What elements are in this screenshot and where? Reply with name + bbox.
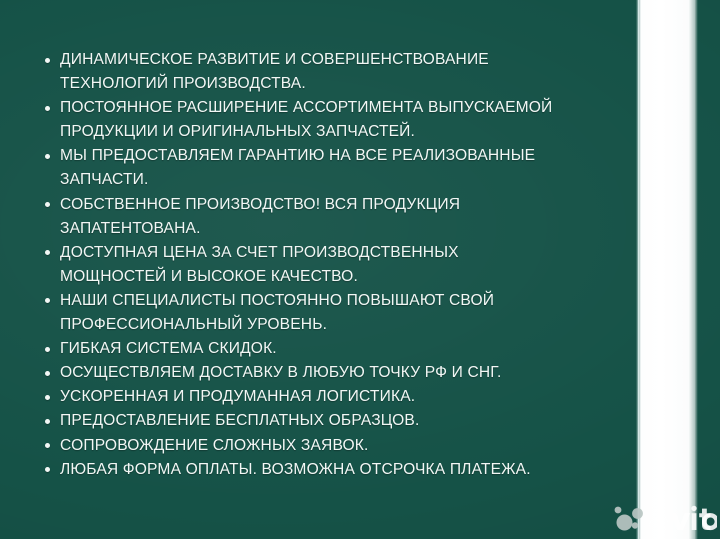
slide-canvas: ДИНАМИЧЕСКОЕ РАЗВИТИЕ И СОВЕРШЕНСТВОВАНИ… [0, 0, 720, 539]
benefits-bullet-list: ДИНАМИЧЕСКОЕ РАЗВИТИЕ И СОВЕРШЕНСТВОВАНИ… [42, 48, 620, 482]
bullet-item: ПОСТОЯННОЕ РАСШИРЕНИЕ АССОРТИМЕНТА ВЫПУС… [42, 96, 620, 144]
bullet-dot-icon [45, 202, 50, 207]
bullet-text: ДОСТУПНАЯ ЦЕНА ЗА СЧЕТ ПРОИЗВОДСТВЕННЫХ … [60, 244, 459, 285]
bullet-dot-icon [45, 347, 50, 352]
bullet-item: МЫ ПРЕДОСТАВЛЯЕМ ГАРАНТИЮ НА ВСЕ РЕАЛИЗО… [42, 144, 620, 192]
bullet-text: ГИБКАЯ СИСТЕМА СКИДОК. [60, 340, 277, 357]
bullet-item: СОПРОВОЖДЕНИЕ СЛОЖНЫХ ЗАЯВОК. [42, 434, 620, 458]
bullet-text: СОБСТВЕННОЕ ПРОИЗВОДСТВО! ВСЯ ПРОДУКЦИЯ … [60, 196, 460, 237]
bullet-text: ДИНАМИЧЕСКОЕ РАЗВИТИЕ И СОВЕРШЕНСТВОВАНИ… [60, 51, 489, 92]
bullet-dot-icon [45, 250, 50, 255]
bullet-item: НАШИ СПЕЦИАЛИСТЫ ПОСТОЯННО ПОВЫШАЮТ СВОЙ… [42, 289, 620, 337]
bullet-text: ПРЕДОСТАВЛЕНИЕ БЕСПЛАТНЫХ ОБРАЗЦОВ. [60, 412, 419, 429]
bullet-text: СОПРОВОЖДЕНИЕ СЛОЖНЫХ ЗАЯВОК. [60, 437, 369, 454]
bullet-text: НАШИ СПЕЦИАЛИСТЫ ПОСТОЯННО ПОВЫШАЮТ СВОЙ… [60, 292, 494, 333]
bullet-text: ЛЮБАЯ ФОРМА ОПЛАТЫ. ВОЗМОЖНА ОТСРОЧКА ПЛ… [60, 461, 531, 478]
bullet-item: СОБСТВЕННОЕ ПРОИЗВОДСТВО! ВСЯ ПРОДУКЦИЯ … [42, 193, 620, 241]
white-stripe-right-edge [695, 0, 698, 539]
bullet-dot-icon [45, 154, 50, 159]
bullet-text: ОСУЩЕСТВЛЯЕМ ДОСТАВКУ В ЛЮБУЮ ТОЧКУ РФ И… [60, 364, 501, 381]
bullet-item: ОСУЩЕСТВЛЯЕМ ДОСТАВКУ В ЛЮБУЮ ТОЧКУ РФ И… [42, 361, 620, 385]
bullet-dot-icon [45, 467, 50, 472]
bullet-dot-icon [45, 419, 50, 424]
bullet-dot-icon [45, 58, 50, 63]
bullet-item: ДОСТУПНАЯ ЦЕНА ЗА СЧЕТ ПРОИЗВОДСТВЕННЫХ … [42, 241, 620, 289]
bullet-dot-icon [45, 395, 50, 400]
bullet-text: МЫ ПРЕДОСТАВЛЯЕМ ГАРАНТИЮ НА ВСЕ РЕАЛИЗО… [60, 147, 535, 188]
bullet-item: ДИНАМИЧЕСКОЕ РАЗВИТИЕ И СОВЕРШЕНСТВОВАНИ… [42, 48, 620, 96]
bullet-dot-icon [45, 443, 50, 448]
bullet-item: ПРЕДОСТАВЛЕНИЕ БЕСПЛАТНЫХ ОБРАЗЦОВ. [42, 409, 620, 433]
bullet-item: УСКОРЕННАЯ И ПРОДУМАННАЯ ЛОГИСТИКА. [42, 385, 620, 409]
white-vertical-stripe [638, 0, 697, 539]
bullet-item: ГИБКАЯ СИСТЕМА СКИДОК. [42, 337, 620, 361]
bullet-text: УСКОРЕННАЯ И ПРОДУМАННАЯ ЛОГИСТИКА. [60, 388, 415, 405]
bullet-dot-icon [45, 106, 50, 111]
bullet-text: ПОСТОЯННОЕ РАСШИРЕНИЕ АССОРТИМЕНТА ВЫПУС… [60, 99, 552, 140]
bullet-dot-icon [45, 371, 50, 376]
bullet-dot-icon [45, 298, 50, 303]
bullet-item: ЛЮБАЯ ФОРМА ОПЛАТЫ. ВОЗМОЖНА ОТСРОЧКА ПЛ… [42, 458, 620, 482]
